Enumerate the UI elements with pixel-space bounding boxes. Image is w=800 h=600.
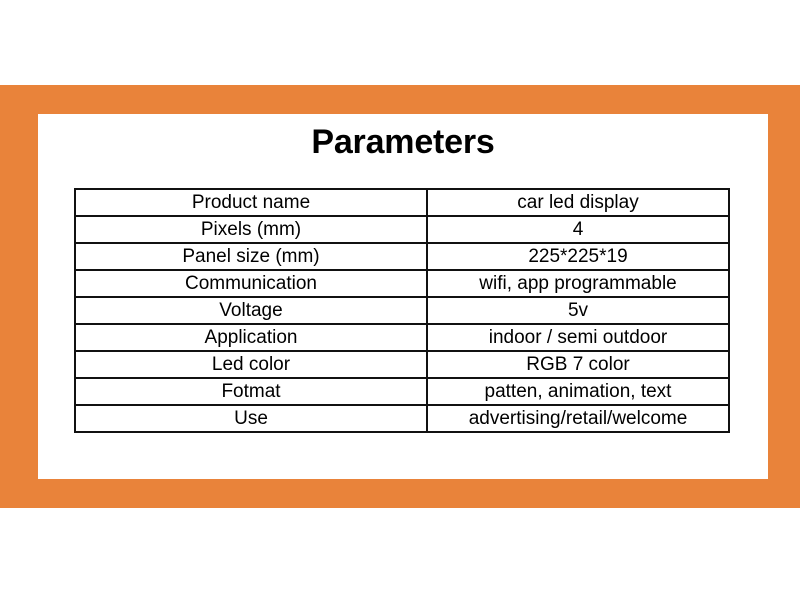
spec-label: Communication — [75, 270, 427, 297]
table-row: Product name car led display — [75, 189, 729, 216]
table-row: Communication wifi, app programmable — [75, 270, 729, 297]
spec-value: 225*225*19 — [427, 243, 729, 270]
spec-label: Fotmat — [75, 378, 427, 405]
spec-value: 4 — [427, 216, 729, 243]
spec-label: Voltage — [75, 297, 427, 324]
table-row: Led color RGB 7 color — [75, 351, 729, 378]
spec-value: patten, animation, text — [427, 378, 729, 405]
table-row: Fotmat patten, animation, text — [75, 378, 729, 405]
specification-table: Product name car led display Pixels (mm)… — [74, 188, 730, 433]
table-row: Pixels (mm) 4 — [75, 216, 729, 243]
table-row: Use advertising/retail/welcome — [75, 405, 729, 432]
spec-label: Use — [75, 405, 427, 432]
spec-label: Led color — [75, 351, 427, 378]
spec-value: indoor / semi outdoor — [427, 324, 729, 351]
spec-label: Pixels (mm) — [75, 216, 427, 243]
spec-label: Product name — [75, 189, 427, 216]
table-row: Application indoor / semi outdoor — [75, 324, 729, 351]
slide-canvas: Parameters Product name car led display … — [0, 0, 800, 600]
spec-value: advertising/retail/welcome — [427, 405, 729, 432]
spec-label: Panel size (mm) — [75, 243, 427, 270]
spec-value: wifi, app programmable — [427, 270, 729, 297]
content-panel: Parameters Product name car led display … — [38, 114, 768, 479]
page-title: Parameters — [38, 123, 768, 162]
table-row: Voltage 5v — [75, 297, 729, 324]
spec-value: RGB 7 color — [427, 351, 729, 378]
spec-label: Application — [75, 324, 427, 351]
table-row: Panel size (mm) 225*225*19 — [75, 243, 729, 270]
spec-value: car led display — [427, 189, 729, 216]
specification-table-body: Product name car led display Pixels (mm)… — [75, 189, 729, 432]
spec-value: 5v — [427, 297, 729, 324]
